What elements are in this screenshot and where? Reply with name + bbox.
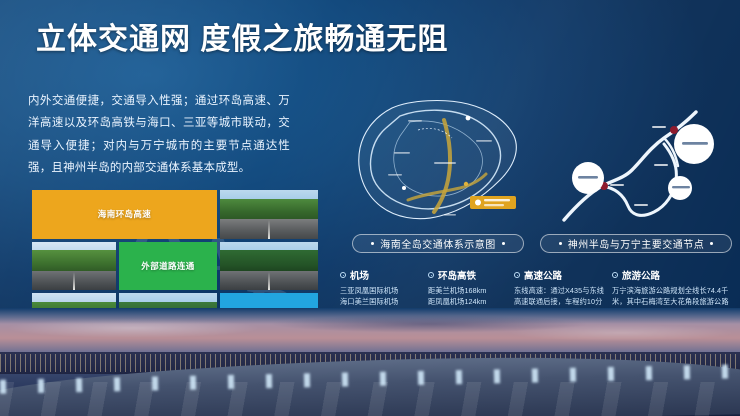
tile-external-road-label: 外部道路连通 [119, 260, 217, 272]
intro-paragraph: 内外交通便捷，交通导入性强；通过环岛高速、万洋高速以及环岛高铁与海口、三亚等城市… [28, 90, 290, 180]
caption-dot-left-2 [559, 242, 562, 245]
info-column-tourist-highway-header: 旅游公路 [612, 268, 730, 282]
info-column-expressway-header: 高速公路 [514, 268, 608, 282]
hainan-map-caption-text: 海南全岛交通体系示意图 [380, 236, 496, 251]
slide-root: 立体交通网 度假之旅畅通无阻 内外交通便捷，交通导入性强；通过环岛高速、万洋高速… [0, 0, 740, 416]
photo-top-fade [0, 308, 740, 324]
info-column-tourist-highway-title: 旅游公路 [622, 268, 660, 282]
hainan-map-caption: 海南全岛交通体系示意图 [352, 234, 524, 253]
info-column-airport-header: 机场 [340, 268, 424, 282]
caption-dot-left [371, 242, 374, 245]
shenzhou-peninsula-map [558, 104, 726, 230]
info-line: 距凤凰机场124km [428, 296, 510, 307]
hainan-island-map [348, 96, 528, 230]
photo-road-2 [32, 242, 116, 291]
caption-dot-right [502, 242, 505, 245]
bullet-icon [428, 272, 434, 278]
info-line: 海口美兰国际机场 [340, 296, 424, 307]
info-column-rail-title: 环岛高铁 [438, 268, 476, 282]
info-column-expressway-title: 高速公路 [524, 268, 562, 282]
bullet-icon [612, 272, 618, 278]
peninsula-map-caption-text: 神州半岛与万宁主要交通节点 [568, 236, 705, 251]
caption-dot-right-2 [710, 242, 713, 245]
info-column-rail-header: 环岛高铁 [428, 268, 510, 282]
photo-road-3 [220, 242, 318, 291]
info-line: 三亚凤凰国际机场 [340, 285, 424, 296]
bullet-icon [514, 272, 520, 278]
photo-road-1 [220, 190, 318, 239]
info-line: 距美兰机场168km [428, 285, 510, 296]
tile-ring-expressway: 海南环岛高速 [32, 190, 217, 239]
page-title: 立体交通网 度假之旅畅通无阻 [36, 22, 448, 58]
info-column-airport-title: 机场 [350, 268, 369, 282]
tile-ring-expressway-label: 海南环岛高速 [32, 208, 217, 220]
tile-external-road: 外部道路连通 [119, 242, 217, 291]
bullet-icon [340, 272, 346, 278]
bottom-highway-photo [0, 308, 740, 416]
peninsula-map-caption: 神州半岛与万宁主要交通节点 [540, 234, 732, 253]
